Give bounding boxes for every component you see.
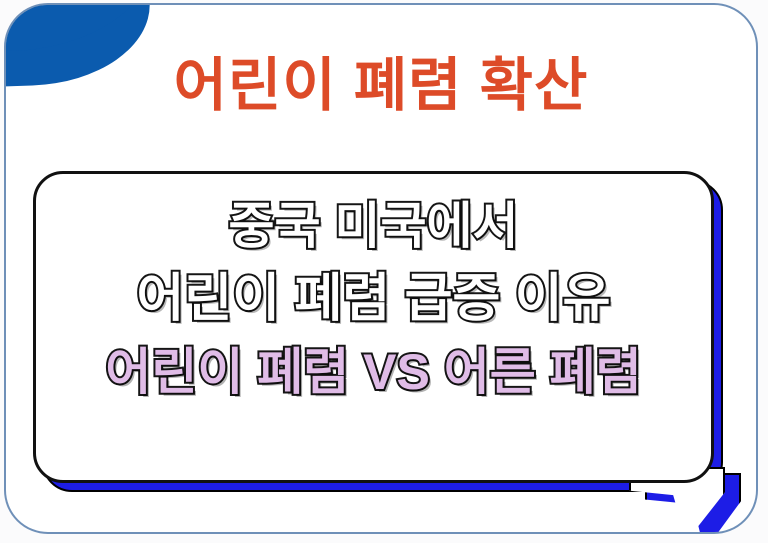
poster-canvas: 어린이 폐렴 확산 중국 미국에서 어린이 폐렴 급증 이유 어린이 폐렴 VS… [0, 0, 768, 543]
speech-bubble-body: 중국 미국에서 어린이 폐렴 급증 이유 어린이 폐렴 VS 어른 폐렴 [33, 171, 714, 483]
bubble-line-1: 중국 미국에서 [229, 198, 519, 254]
speech-bubble-text-block: 중국 미국에서 어린이 폐렴 급증 이유 어린이 폐렴 VS 어른 폐렴 [36, 174, 711, 480]
page-title: 어린이 폐렴 확산 [6, 57, 756, 115]
bubble-line-3: 어린이 폐렴 VS 어른 폐렴 [105, 344, 641, 400]
bubble-line-2: 어린이 폐렴 급증 이유 [137, 270, 611, 328]
outer-frame: 어린이 폐렴 확산 중국 미국에서 어린이 폐렴 급증 이유 어린이 폐렴 VS… [4, 3, 758, 534]
speech-bubble: 중국 미국에서 어린이 폐렴 급증 이유 어린이 폐렴 VS 어른 폐렴 [33, 171, 723, 501]
